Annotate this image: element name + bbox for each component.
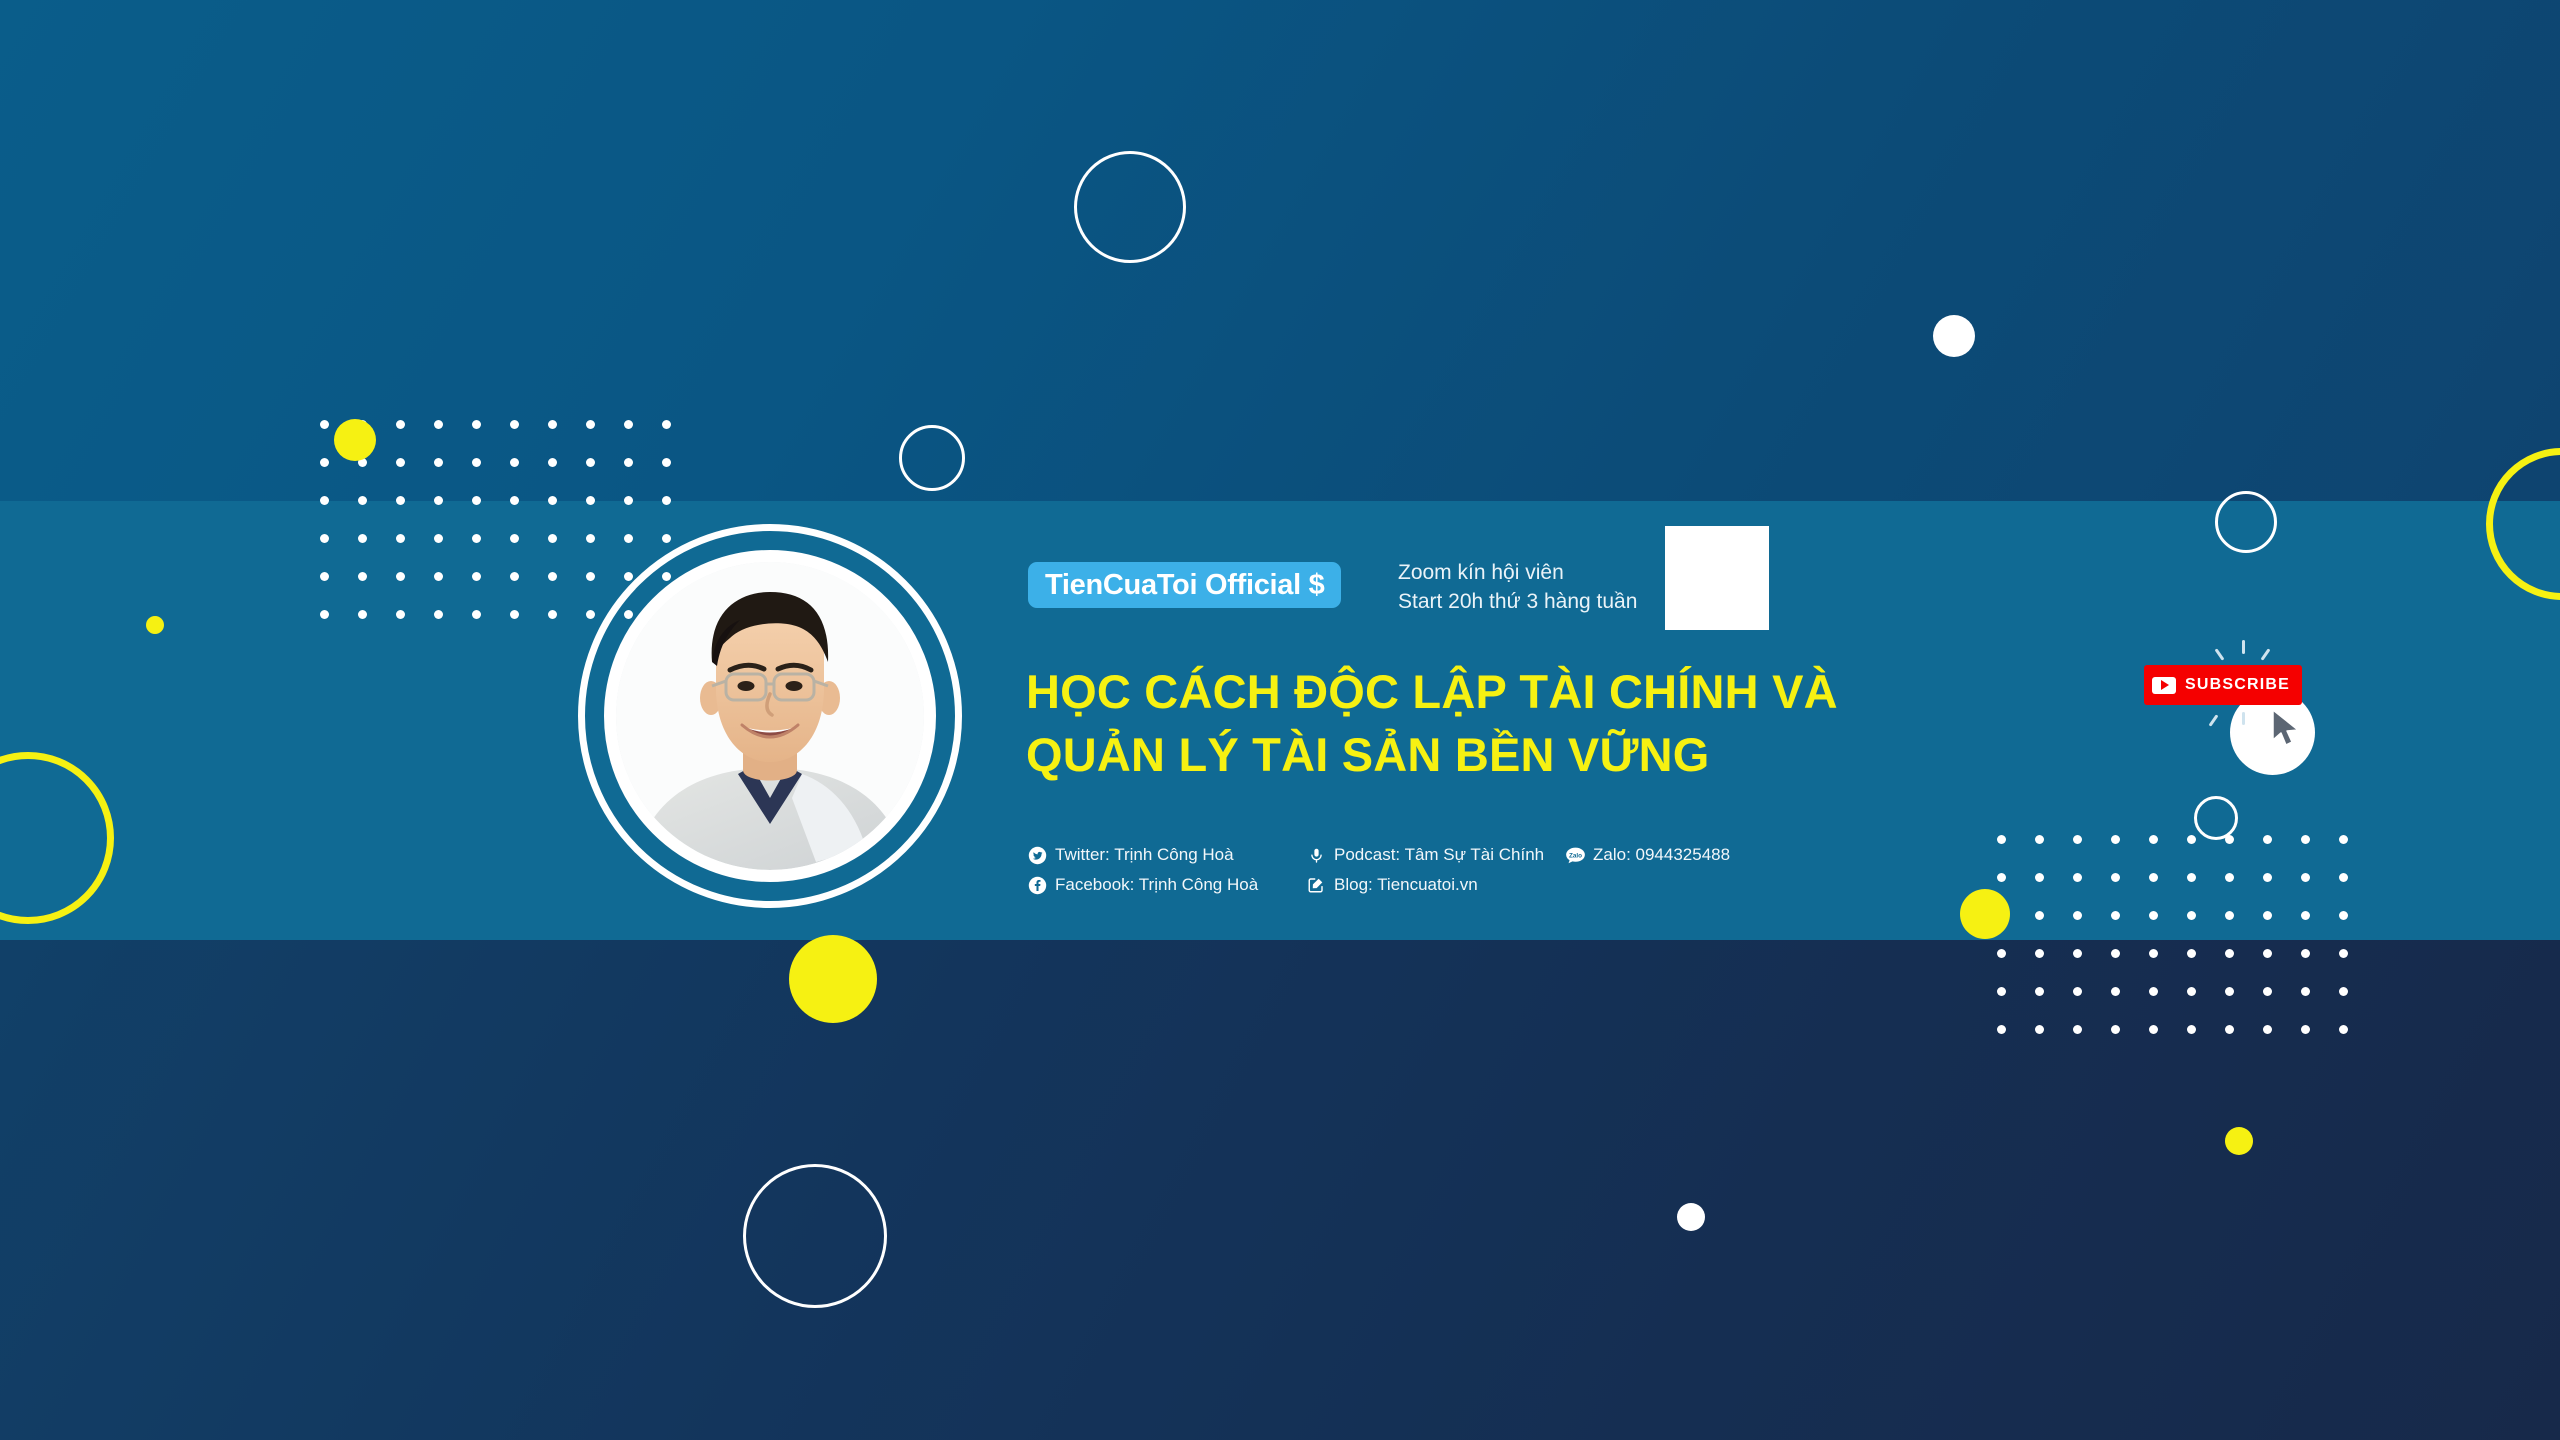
grid-dot [2210, 972, 2248, 1010]
grid-dot [2058, 896, 2096, 934]
grid-dot [2248, 820, 2286, 858]
grid-dot [457, 519, 495, 557]
grid-dot [2134, 896, 2172, 934]
grid-dot [495, 481, 533, 519]
grid-dot [343, 557, 381, 595]
grid-dot [2020, 896, 2058, 934]
grid-dot [609, 405, 647, 443]
mouse-pointer-icon [2270, 708, 2304, 755]
grid-dot [419, 481, 457, 519]
channel-badge-label: TienCuaToi Official $ [1045, 569, 1324, 602]
grid-dot [2248, 934, 2286, 972]
grid-dot [533, 519, 571, 557]
zalo-icon: Zalo [1564, 845, 1586, 865]
grid-dot [2286, 858, 2324, 896]
grid-dot [343, 595, 381, 633]
grid-dot [2058, 1010, 2096, 1048]
grid-dot [2096, 858, 2134, 896]
microphone-icon [1305, 845, 1327, 865]
grid-dot [571, 443, 609, 481]
channel-badge[interactable]: TienCuaToi Official $ [1028, 562, 1341, 608]
grid-dot [2096, 820, 2134, 858]
grid-dot [2172, 896, 2210, 934]
grid-dot [2172, 858, 2210, 896]
grid-dot [381, 481, 419, 519]
contact-column-1: Twitter: Trịnh Công Hoà Facebook: Trịnh … [1026, 842, 1271, 902]
youtube-play-icon [2152, 677, 2176, 694]
grid-dot [2286, 820, 2324, 858]
qr-code-matrix [1670, 531, 1764, 625]
spark-4 [2209, 714, 2219, 726]
grid-dot [2210, 1010, 2248, 1048]
grid-dot [457, 595, 495, 633]
grid-dot [2020, 1010, 2058, 1048]
grid-dot [457, 405, 495, 443]
grid-dot [2134, 972, 2172, 1010]
grid-dot [571, 405, 609, 443]
grid-dot [419, 405, 457, 443]
grid-dot [381, 443, 419, 481]
grid-dot [343, 519, 381, 557]
decor-dot-white-1 [1933, 315, 1975, 357]
grid-dot [2020, 972, 2058, 1010]
decor-ring-white-3 [2215, 491, 2277, 553]
grid-dot [381, 595, 419, 633]
contact-twitter-label: Twitter: Trịnh Công Hoà [1055, 845, 1234, 865]
grid-dot [419, 519, 457, 557]
grid-dot [2134, 1010, 2172, 1048]
decor-ring-white-2 [899, 425, 965, 491]
grid-dot [2210, 934, 2248, 972]
grid-dot [609, 443, 647, 481]
grid-dot [2172, 934, 2210, 972]
grid-dot [1982, 1010, 2020, 1048]
grid-dot [2134, 858, 2172, 896]
grid-dot [495, 405, 533, 443]
grid-dot [2096, 896, 2134, 934]
grid-dot [2248, 896, 2286, 934]
decor-ring-white-4 [2194, 796, 2238, 840]
grid-dot [495, 519, 533, 557]
grid-dot [2248, 972, 2286, 1010]
headline-line1: HỌC CÁCH ĐỘC LẬP TÀI CHÍNH VÀ [1026, 660, 2026, 723]
grid-dot [2134, 820, 2172, 858]
grid-dot [419, 443, 457, 481]
zoom-note-line2: Start 20h thứ 3 hàng tuần [1398, 587, 1637, 616]
grid-dot [343, 481, 381, 519]
subscribe-button[interactable]: SUBSCRIBE [2144, 665, 2302, 705]
decor-dot-white-2 [1677, 1203, 1705, 1231]
decor-ring-white-1 [1074, 151, 1186, 263]
grid-dot [2324, 1010, 2362, 1048]
zoom-schedule-note: Zoom kín hội viên Start 20h thứ 3 hàng t… [1398, 558, 1637, 616]
grid-dot [2058, 858, 2096, 896]
grid-dot [533, 405, 571, 443]
page-title: HỌC CÁCH ĐỘC LẬP TÀI CHÍNH VÀ QUẢN LÝ TÀ… [1026, 660, 2026, 786]
grid-dot [2248, 858, 2286, 896]
contact-facebook-label: Facebook: Trịnh Công Hoà [1055, 875, 1258, 895]
grid-dot [381, 557, 419, 595]
grid-dot [571, 481, 609, 519]
contact-column-3: Zalo Zalo: 0944325488 [1564, 842, 1730, 902]
grid-dot [647, 405, 685, 443]
grid-dot [533, 557, 571, 595]
grid-dot [495, 557, 533, 595]
grid-dot [2134, 934, 2172, 972]
grid-dot [2324, 858, 2362, 896]
contact-blog-label: Blog: Tiencuatoi.vn [1334, 875, 1478, 895]
subscribe-widget[interactable]: SUBSCRIBE [2130, 640, 2370, 780]
grid-dot [495, 443, 533, 481]
grid-dot [1982, 820, 2020, 858]
contact-links: Twitter: Trịnh Công Hoà Facebook: Trịnh … [1026, 842, 1764, 902]
grid-dot [305, 481, 343, 519]
contact-zalo[interactable]: Zalo Zalo: 0944325488 [1564, 842, 1730, 868]
grid-dot [2058, 972, 2096, 1010]
profile-photo [616, 562, 924, 870]
grid-dot [2172, 972, 2210, 1010]
spark-1 [2242, 640, 2245, 654]
dot-grid-right [1982, 820, 2362, 1048]
grid-dot [2210, 896, 2248, 934]
contact-podcast[interactable]: Podcast: Tâm Sự Tài Chính [1305, 842, 1530, 868]
grid-dot [2286, 896, 2324, 934]
grid-dot [533, 481, 571, 519]
spark-2 [2215, 648, 2225, 660]
decor-dot-yellow-2 [146, 616, 164, 634]
grid-dot [1982, 934, 2020, 972]
grid-dot [2210, 858, 2248, 896]
grid-dot [1982, 972, 2020, 1010]
grid-dot [2020, 820, 2058, 858]
decor-dot-yellow-4 [1960, 889, 2010, 939]
grid-dot [2172, 1010, 2210, 1048]
grid-dot [647, 443, 685, 481]
grid-dot [305, 557, 343, 595]
decor-dot-yellow-3 [789, 935, 877, 1023]
grid-dot [2324, 820, 2362, 858]
contact-blog[interactable]: Blog: Tiencuatoi.vn [1305, 872, 1530, 898]
grid-dot [647, 481, 685, 519]
grid-dot [2286, 972, 2324, 1010]
contact-facebook[interactable]: Facebook: Trịnh Công Hoà [1026, 872, 1271, 898]
grid-dot [305, 519, 343, 557]
grid-dot [381, 405, 419, 443]
decor-dot-yellow-1 [334, 419, 376, 461]
grid-dot [2058, 820, 2096, 858]
avatar [578, 524, 962, 908]
spark-3 [2261, 648, 2271, 660]
grid-dot [533, 443, 571, 481]
grid-dot [2020, 934, 2058, 972]
qr-code[interactable] [1665, 526, 1769, 630]
grid-dot [2286, 934, 2324, 972]
contact-podcast-label: Podcast: Tâm Sự Tài Chính [1334, 845, 1544, 865]
facebook-icon [1026, 875, 1048, 895]
grid-dot [2058, 934, 2096, 972]
grid-dot [2020, 858, 2058, 896]
subscribe-button-label: SUBSCRIBE [2185, 676, 2290, 694]
grid-dot [495, 595, 533, 633]
grid-dot [305, 595, 343, 633]
decor-dot-yellow-5 [2225, 1127, 2253, 1155]
pencil-square-icon [1305, 875, 1327, 895]
headline-line2: QUẢN LÝ TÀI SẢN BỀN VỮNG [1026, 723, 2026, 786]
grid-dot [609, 481, 647, 519]
grid-dot [2096, 972, 2134, 1010]
contact-twitter[interactable]: Twitter: Trịnh Công Hoà [1026, 842, 1271, 868]
contact-zalo-label: Zalo: 0944325488 [1593, 845, 1730, 865]
decor-ring-white-5 [743, 1164, 887, 1308]
grid-dot [457, 443, 495, 481]
grid-dot [533, 595, 571, 633]
grid-dot [2324, 896, 2362, 934]
svg-text:Zalo: Zalo [1568, 852, 1581, 859]
grid-dot [2248, 1010, 2286, 1048]
grid-dot [457, 481, 495, 519]
grid-dot [2324, 972, 2362, 1010]
twitter-icon [1026, 845, 1048, 865]
grid-dot [457, 557, 495, 595]
grid-dot [381, 519, 419, 557]
grid-dot [419, 557, 457, 595]
grid-dot [2324, 934, 2362, 972]
grid-dot [2096, 934, 2134, 972]
grid-dot [2286, 1010, 2324, 1048]
avatar-inner-ring [604, 550, 936, 882]
poster-canvas: TienCuaToi Official $ Zoom kín hội viên … [0, 0, 2560, 1440]
spark-5 [2242, 712, 2245, 725]
grid-dot [419, 595, 457, 633]
zoom-note-line1: Zoom kín hội viên [1398, 558, 1637, 587]
grid-dot [2096, 1010, 2134, 1048]
contact-column-2: Podcast: Tâm Sự Tài Chính Blog: Tiencuat… [1305, 842, 1530, 902]
